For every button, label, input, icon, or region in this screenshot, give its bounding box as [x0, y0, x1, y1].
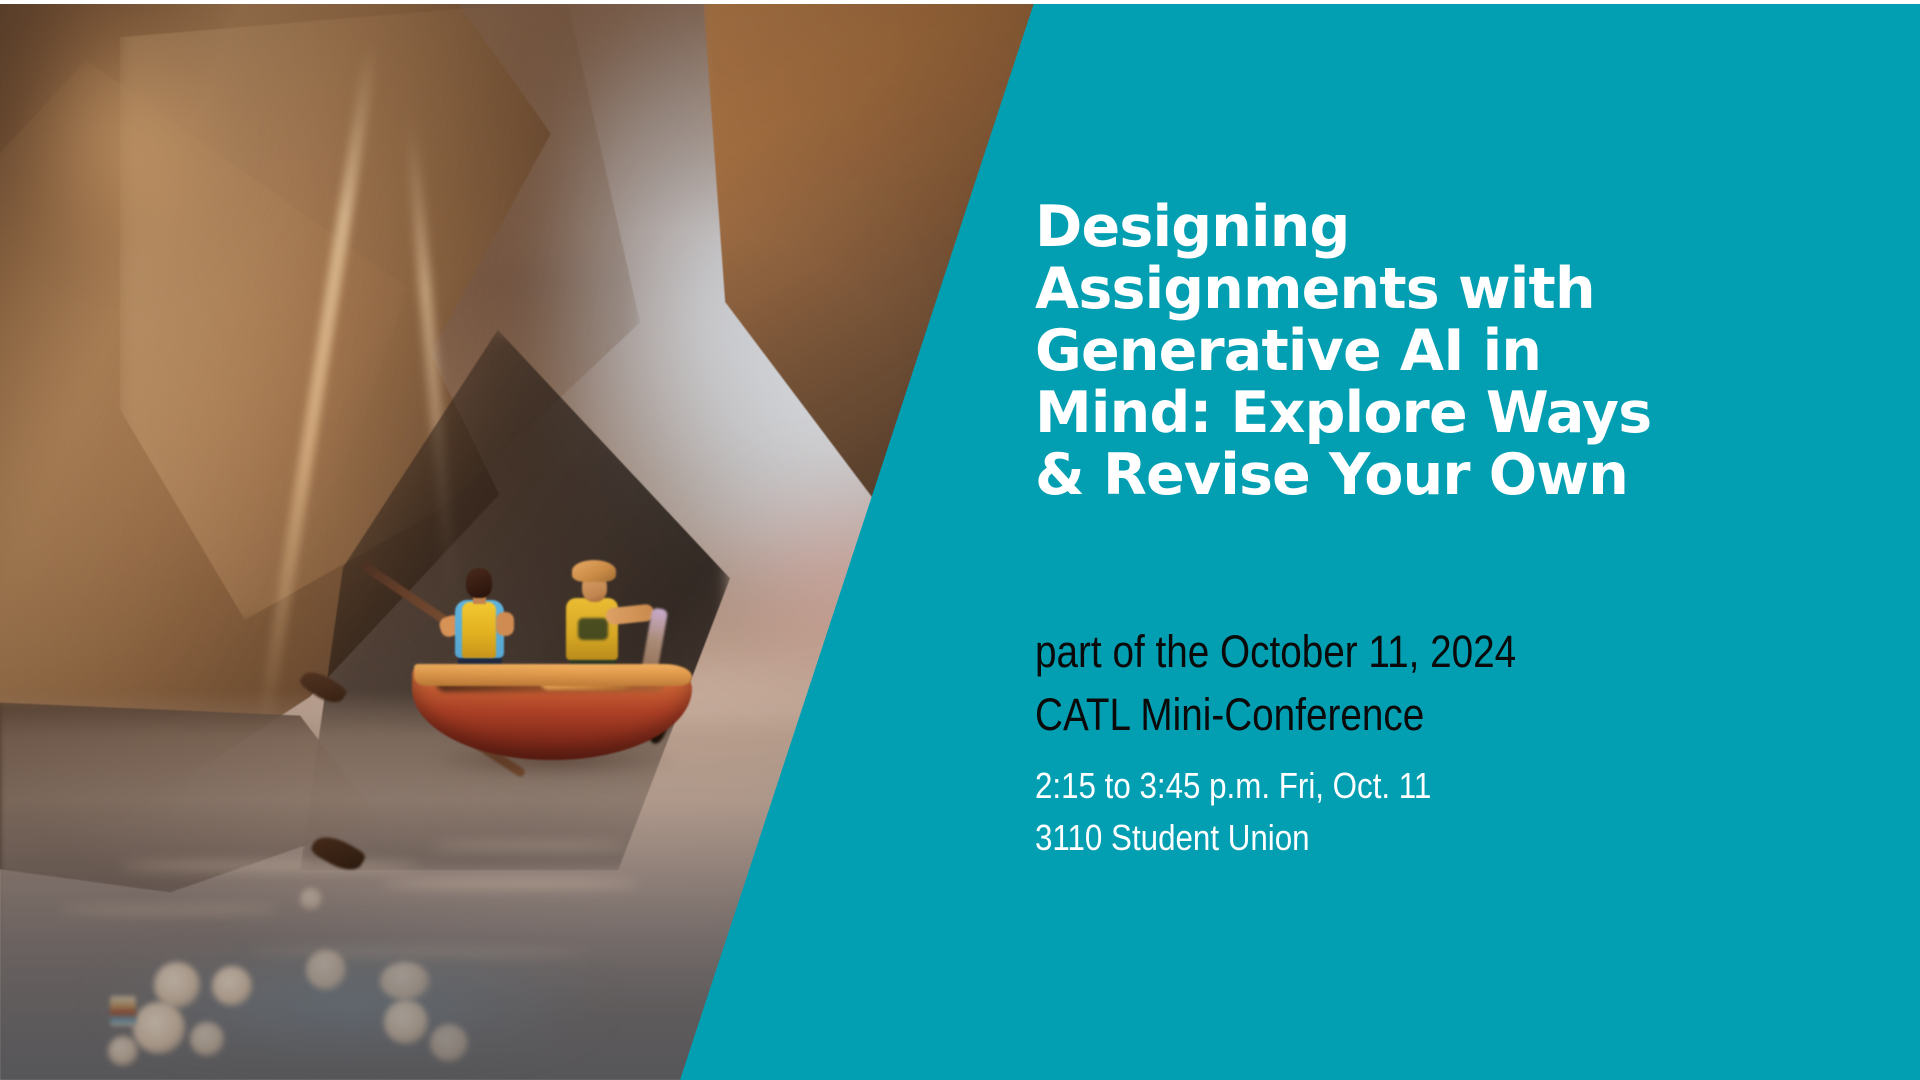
- bokeh-highlight: [108, 1036, 138, 1066]
- paddler-left-arm-right: [496, 612, 514, 636]
- event-time-and-location: 2:15 to 3:45 p.m. Fri, Oct. 11 3110 Stud…: [1035, 760, 1748, 864]
- paddler-left-head: [466, 568, 492, 598]
- bokeh-highlight: [133, 1002, 185, 1054]
- bokeh-highlight: [212, 966, 252, 1006]
- bokeh-highlight: [306, 950, 346, 990]
- conference-subtitle: part of the October 11, 2024 CATL Mini-C…: [1035, 620, 1740, 746]
- bokeh-highlight: [300, 888, 322, 910]
- page-title: Designing Assignments with Generative AI…: [1035, 196, 1835, 506]
- top-white-strip: [0, 0, 1920, 4]
- subtitle-block: part of the October 11, 2024 CATL Mini-C…: [1035, 620, 1855, 746]
- water-streak: [430, 842, 630, 850]
- paddler-left-life-vest: [462, 602, 496, 658]
- paper-bag-right-highlight: [0, 0, 250, 330]
- paddler-right-hat: [572, 560, 616, 582]
- water-streak: [380, 880, 640, 888]
- bokeh-highlight: [190, 1022, 224, 1056]
- bokeh-highlight: [430, 1024, 468, 1062]
- bokeh-highlight: [380, 962, 430, 1000]
- bokeh-color-fleck: [110, 996, 136, 1026]
- paddler-right-arm: [605, 604, 655, 626]
- title-block: Designing Assignments with Generative AI…: [1035, 196, 1835, 506]
- water-streak: [60, 906, 280, 914]
- event-poster: Designing Assignments with Generative AI…: [0, 0, 1920, 1080]
- paddler-right-vest-dark: [578, 618, 608, 640]
- bokeh-highlight: [384, 1000, 428, 1044]
- canoe-gunwale: [414, 664, 692, 686]
- water-streak: [120, 862, 420, 870]
- event-details-block: 2:15 to 3:45 p.m. Fri, Oct. 11 3110 Stud…: [1035, 760, 1855, 864]
- miniature-canoe-scene: [392, 556, 722, 786]
- water-streak: [250, 948, 590, 956]
